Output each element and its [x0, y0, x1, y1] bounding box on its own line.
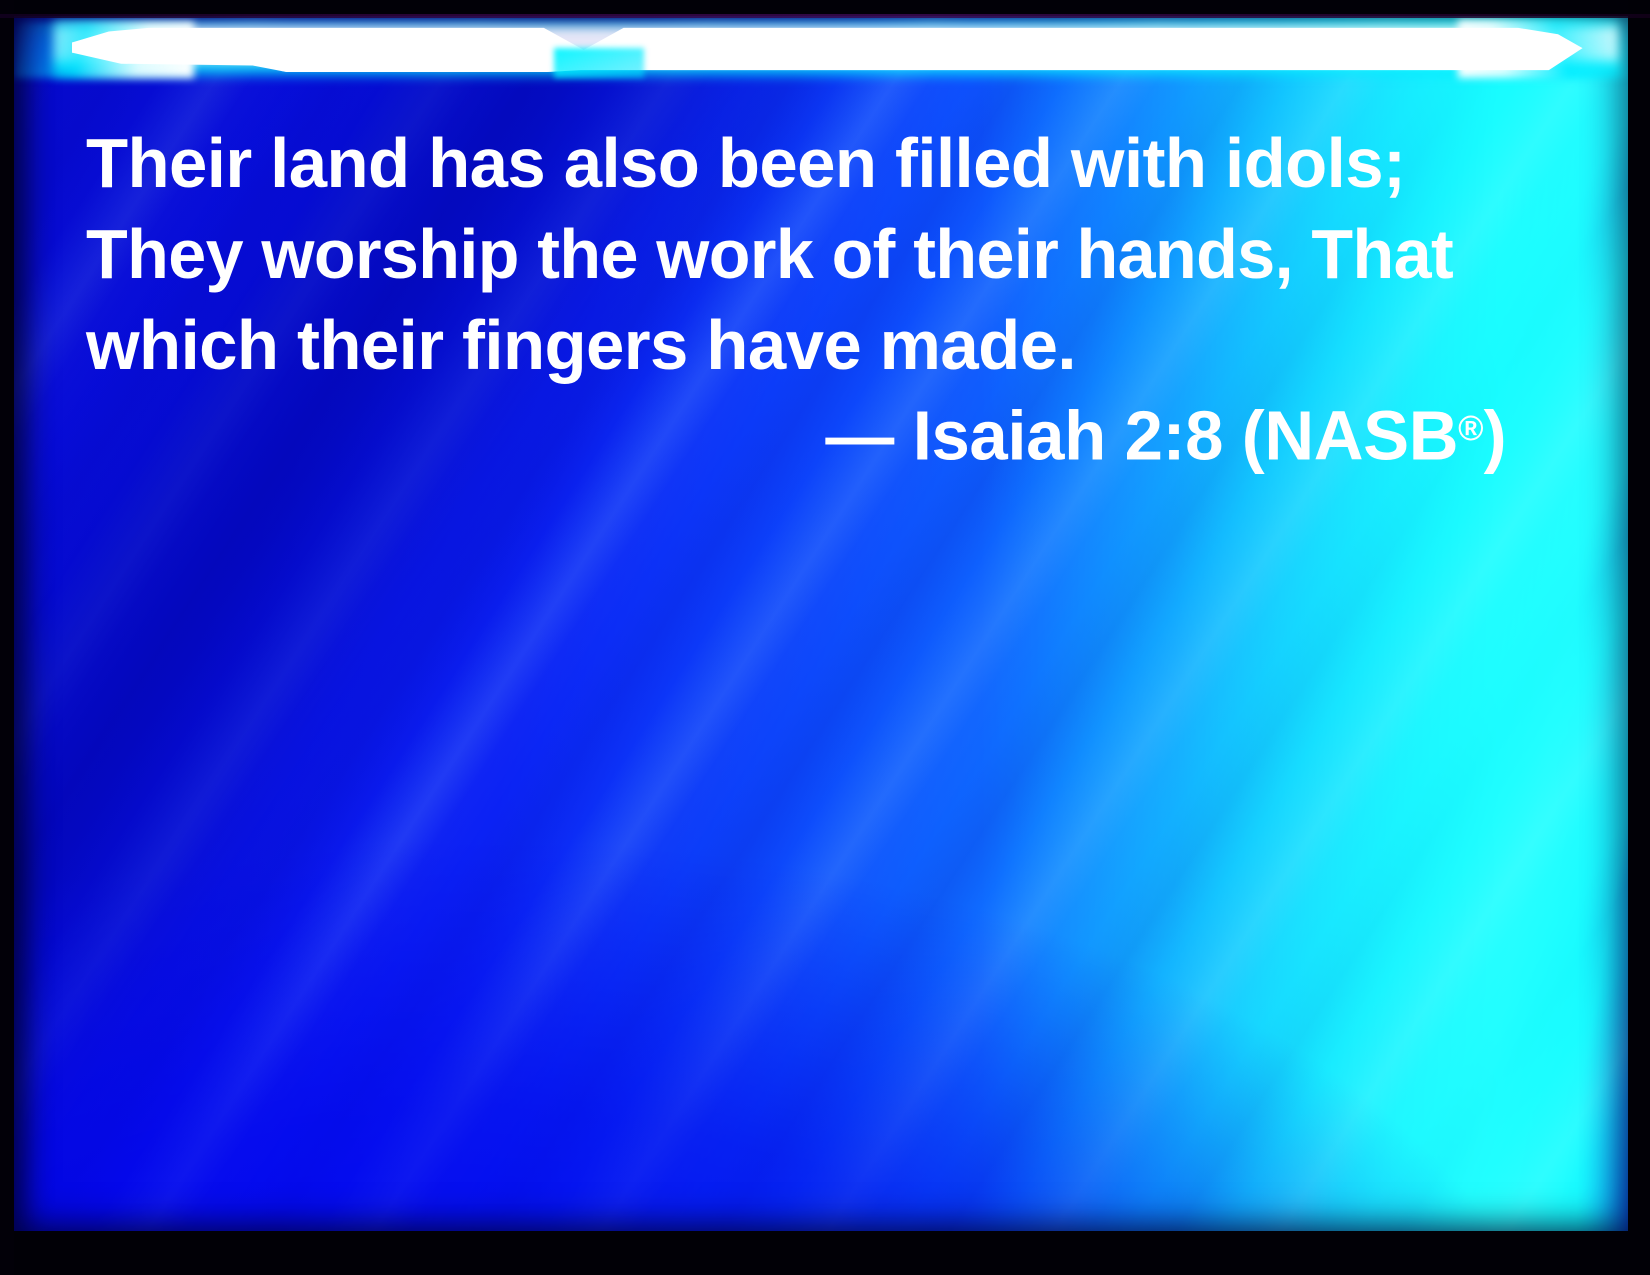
verse-line-2: They worship the work of their hands, Th… [86, 209, 1471, 300]
frame-border-bottom [0, 1231, 1650, 1275]
frame-top-hairline [0, 14, 1650, 18]
glow-white-core [72, 26, 1604, 72]
citation-reference: Isaiah 2:8 (NASB [894, 396, 1458, 474]
verse-text-block: Their land has also been filled with ido… [86, 118, 1506, 391]
citation-close-paren: ) [1483, 396, 1506, 474]
citation-inner: — Isaiah 2:8 (NASB®) [825, 388, 1506, 476]
glow-notch [554, 48, 644, 78]
verse-citation: — Isaiah 2:8 (NASB®) [86, 388, 1506, 476]
verse-line-3: which their fingers have made. [86, 300, 1485, 391]
bible-verse-slide: Their land has also been filled with ido… [0, 0, 1650, 1275]
registered-trademark-icon: ® [1458, 409, 1483, 448]
frame-border-right [1628, 0, 1650, 1275]
citation-em-dash: — [825, 396, 894, 474]
frame-border-left [0, 0, 14, 1275]
top-glow-band [14, 18, 1628, 80]
verse-line-1: Their land has also been filled with ido… [86, 118, 1485, 209]
